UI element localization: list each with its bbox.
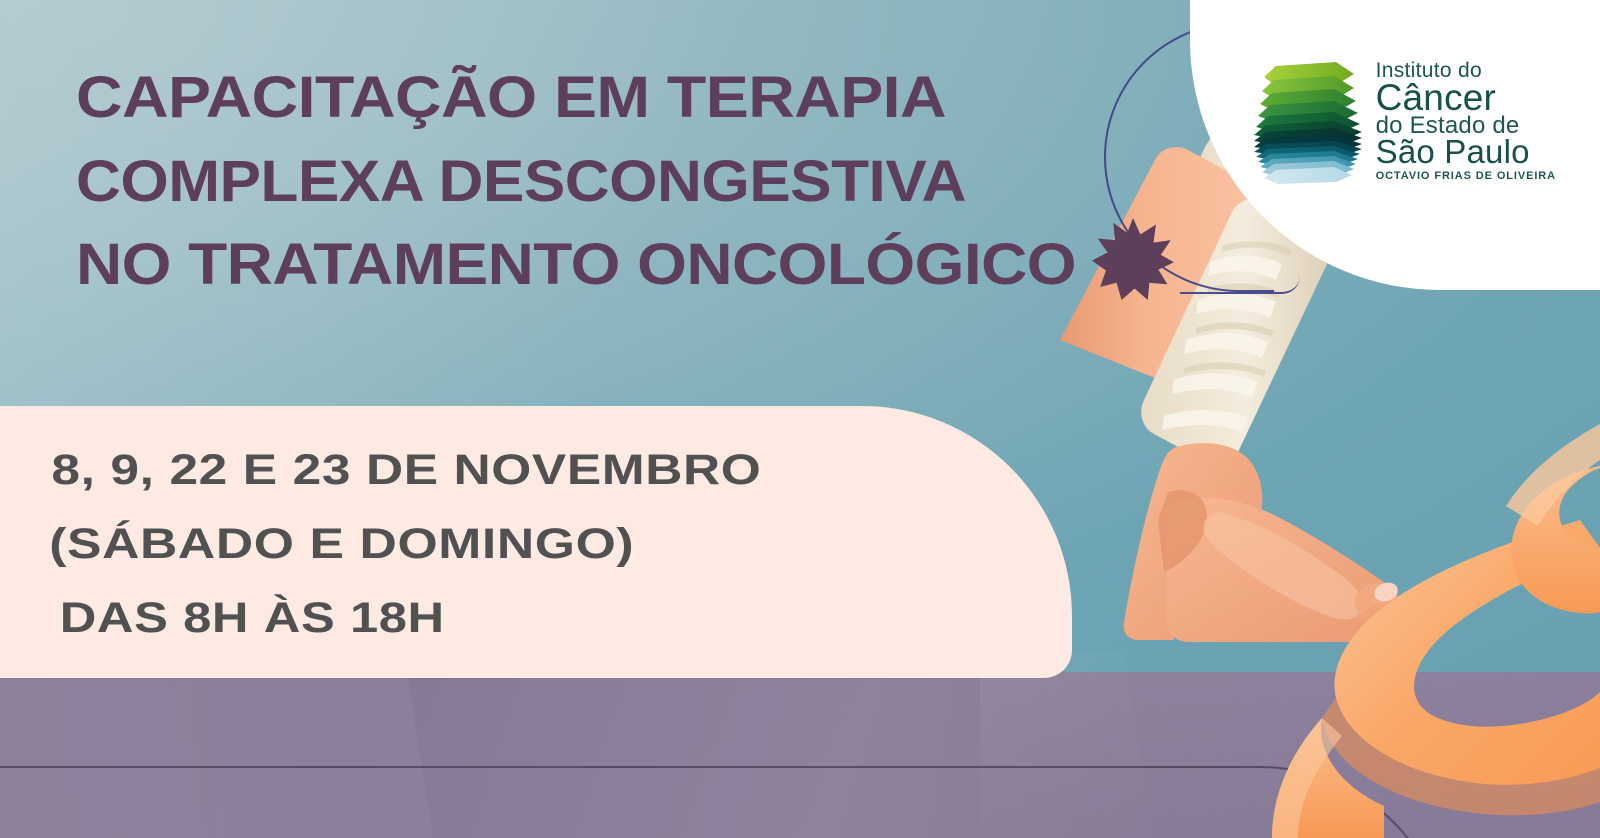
schedule-line-hours: DAS 8H ÀS 18H (60, 582, 1121, 656)
icesp-logo: Instituto do Câncer do Estado de São Pau… (1250, 50, 1556, 190)
icesp-logo-text: Instituto do Câncer do Estado de São Pau… (1376, 58, 1556, 182)
schedule-line-days: (SÁBADO E DOMINGO) (49, 508, 1131, 582)
schedule-line-dates: 8, 9, 22 E 23 DE NOVEMBRO (51, 434, 1128, 508)
title-line-3: NO TRATAMENTO ONCOLÓGICO (76, 223, 1246, 307)
logo-line-saopaulo: São Paulo (1376, 135, 1556, 168)
title-line-2: COMPLEXA DESCONGESTIVA (76, 140, 1212, 224)
poster-canvas: 8, 9, 22 E 23 DE NOVEMBRO (SÁBADO E DOMI… (0, 0, 1600, 838)
title-line-1: CAPACITAÇÃO EM TERAPIA (76, 56, 1254, 140)
page-title: CAPACITAÇÃO EM TERAPIA COMPLEXA DESCONGE… (76, 56, 1136, 307)
schedule-text: 8, 9, 22 E 23 DE NOVEMBRO (SÁBADO E DOMI… (140, 434, 1040, 656)
logo-line-octavio: OCTAVIO FRIAS DE OLIVEIRA (1376, 171, 1556, 182)
logo-line-cancer: Câncer (1376, 79, 1556, 116)
icesp-logo-mark-icon (1250, 50, 1362, 190)
